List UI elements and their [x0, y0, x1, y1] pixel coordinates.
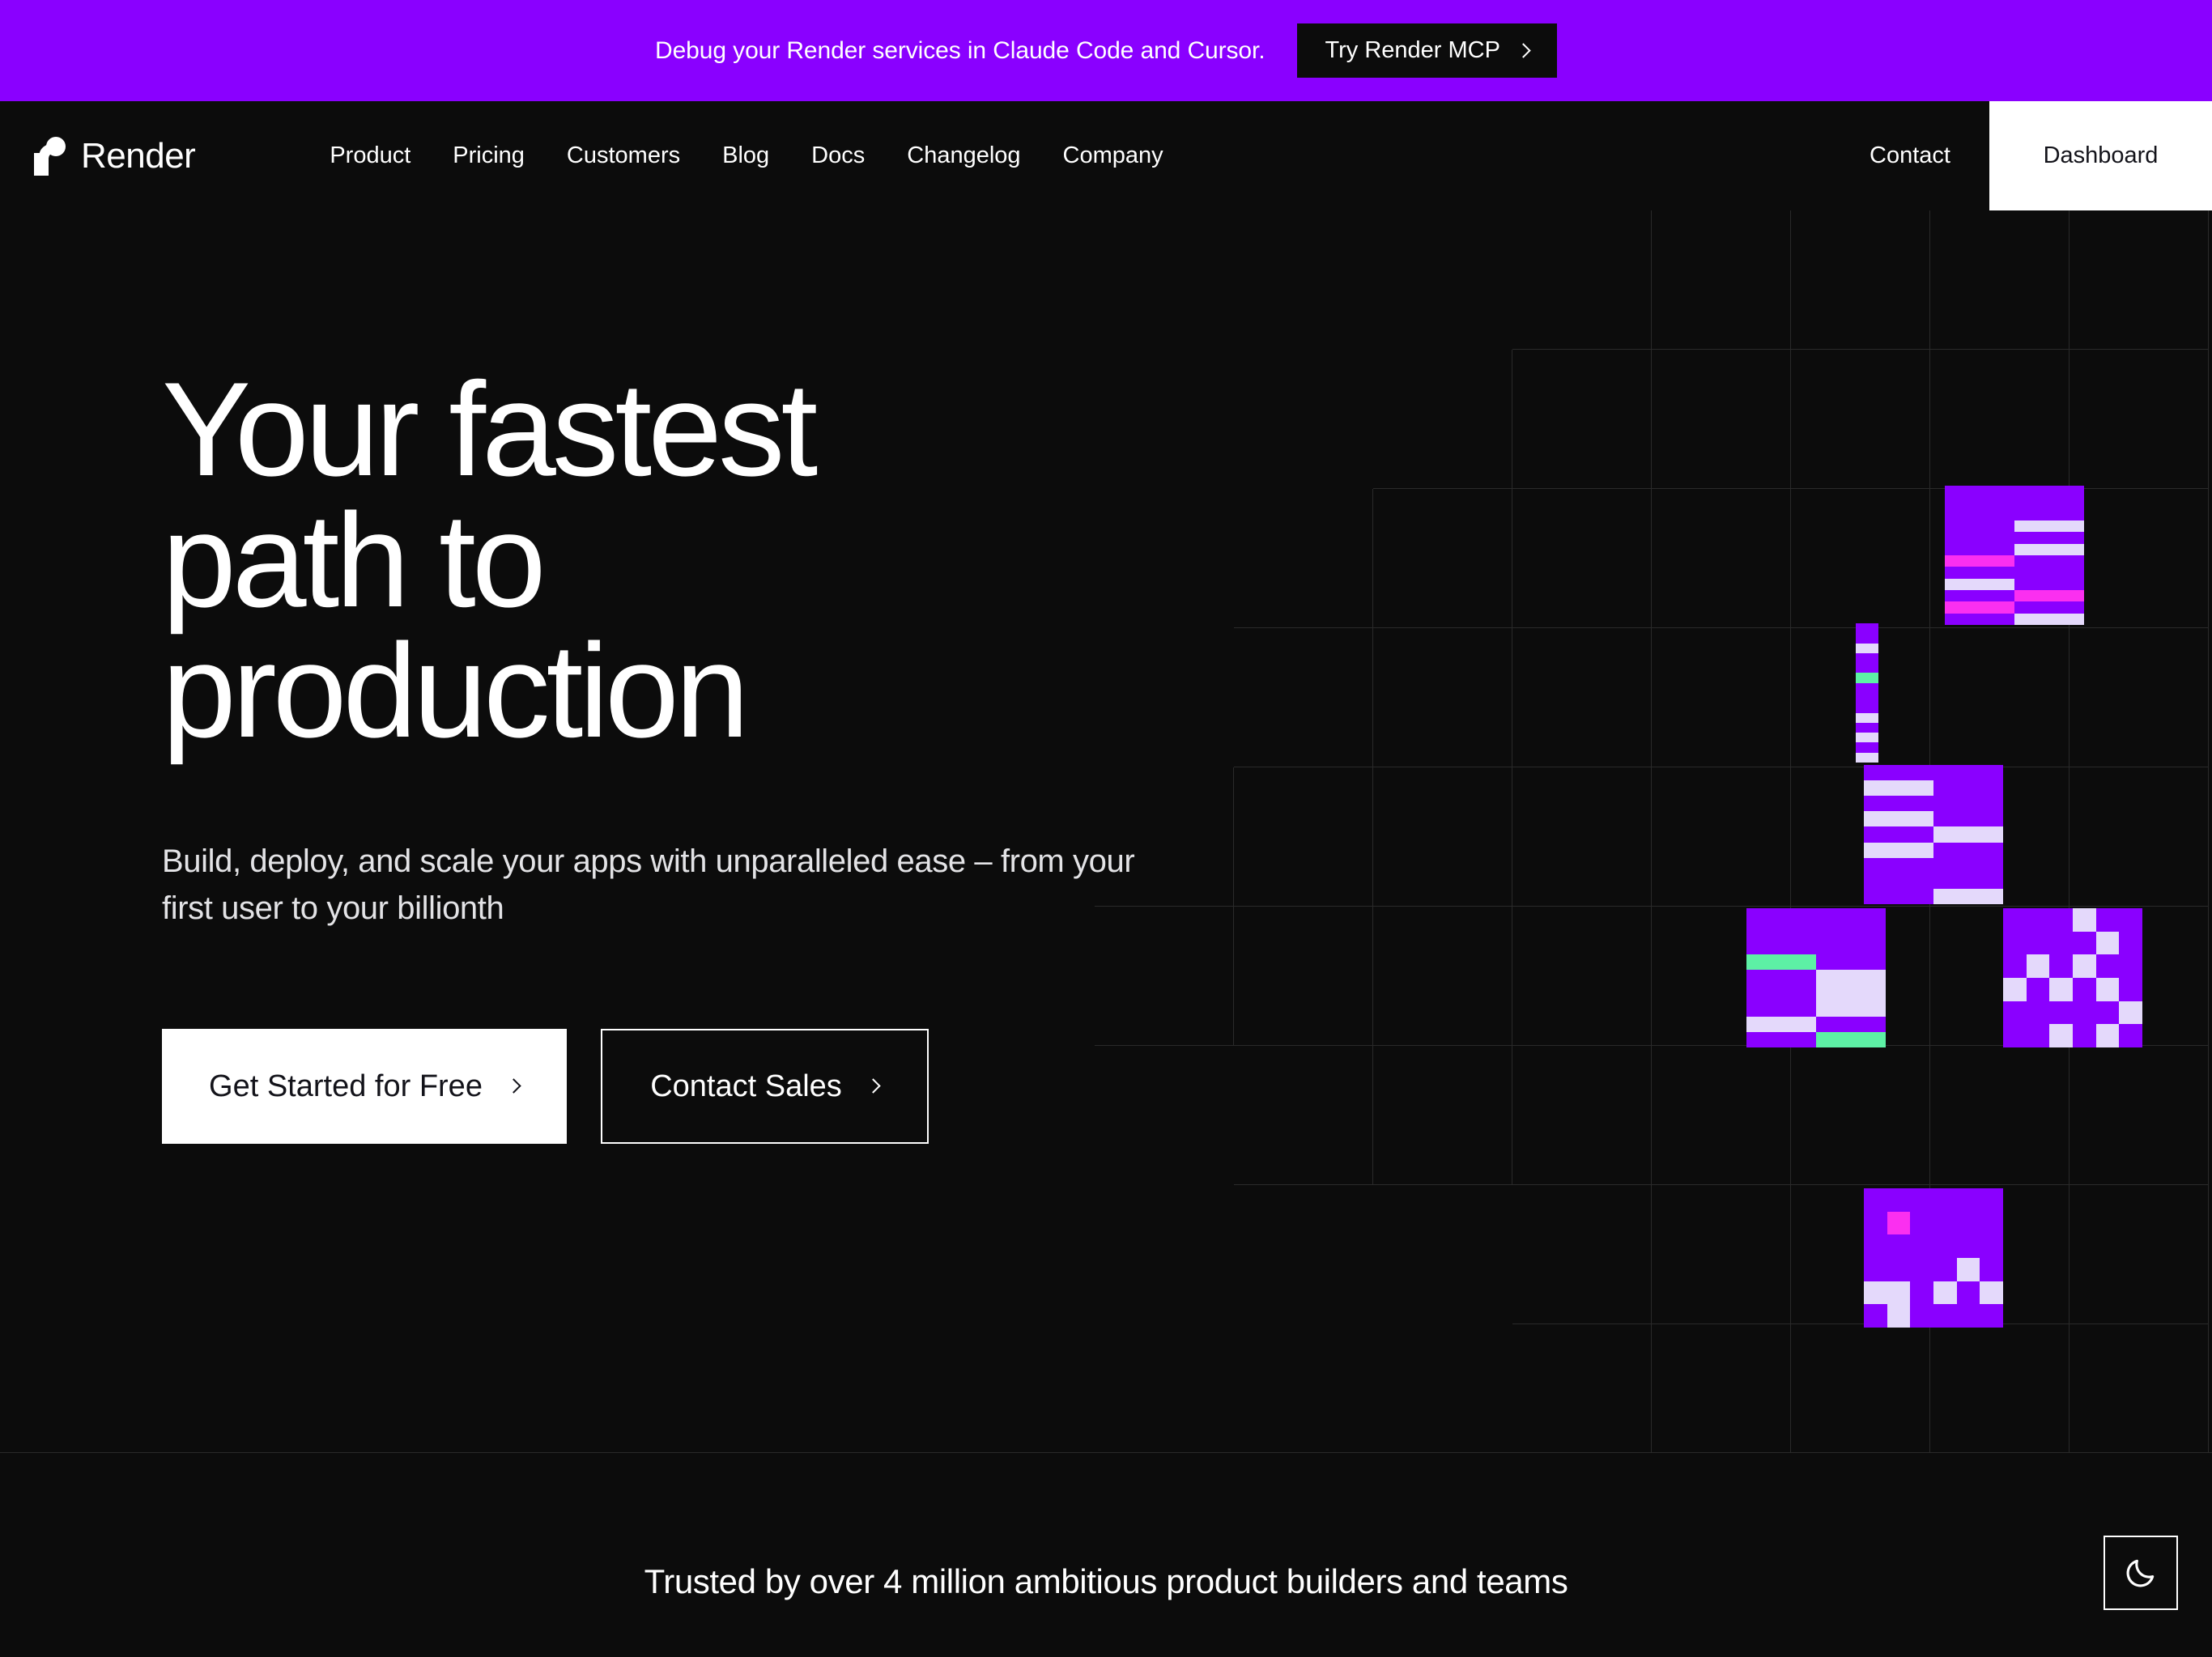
- pixel-cell: [1945, 555, 2014, 567]
- pixel-cell: [1933, 1212, 1957, 1235]
- pixel-cell: [1933, 826, 2003, 842]
- pixel-cell: [2096, 1001, 2120, 1025]
- pixel-cell: [1887, 1304, 1911, 1328]
- pixel-cell: [1864, 1188, 1887, 1212]
- pixel-cell: [1856, 723, 1878, 733]
- pixel-cell: [2014, 497, 2084, 508]
- pixel-cell: [1910, 1304, 1933, 1328]
- pixel-cell: [2119, 1024, 2142, 1047]
- grid-cell: [1930, 1324, 2069, 1453]
- grid-cell: [1791, 1046, 1930, 1185]
- grid-cell: [2069, 767, 2209, 907]
- pixel-cell: [1933, 780, 2003, 796]
- grid-cell: [1791, 210, 1930, 350]
- pixel-cell: [1910, 1281, 1933, 1305]
- page-title: Your fastest path to production: [162, 364, 1174, 757]
- grid-cell: [1652, 628, 1791, 767]
- pixel-cell: [1816, 1017, 1886, 1032]
- grid-cell: [2069, 489, 2209, 628]
- grid-cell: [1373, 907, 1512, 1046]
- grid-cell: [2069, 210, 2209, 350]
- pixel-cell: [1945, 601, 2014, 613]
- grid-cell: [1234, 767, 1373, 907]
- pixel-cell: [1864, 858, 1933, 873]
- pixel-cell: [1864, 765, 1933, 780]
- chevron-right-icon: [507, 1080, 520, 1093]
- nav-links: Product Pricing Customers Blog Docs Chan…: [308, 142, 1184, 169]
- get-started-label: Get Started for Free: [209, 1069, 483, 1104]
- hero-cta-row: Get Started for Free Contact Sales: [162, 1029, 1174, 1144]
- hero-title-line-3: production: [162, 626, 1174, 757]
- pixel-cell: [2096, 978, 2120, 1001]
- pixel-cell: [2073, 978, 2096, 1001]
- contact-sales-button[interactable]: Contact Sales: [601, 1029, 929, 1144]
- pixel-cell: [1864, 873, 1933, 889]
- grid-cell: [1373, 1046, 1512, 1185]
- grid-cell: [1652, 210, 1791, 350]
- pixel-cell: [1910, 1188, 1933, 1212]
- pixel-cell: [1887, 1188, 1911, 1212]
- pixel-cell: [1945, 567, 2014, 578]
- pixel-cell: [1864, 1212, 1887, 1235]
- pixel-cell: [1864, 780, 1933, 796]
- pixel-cell: [2119, 978, 2142, 1001]
- hero-section: Your fastest path to production Build, d…: [0, 210, 2212, 1453]
- pixel-cell: [1856, 663, 1878, 673]
- pixel-cell: [1864, 1234, 1887, 1258]
- section-divider: [0, 1452, 2212, 1453]
- pixel-cell: [1957, 1304, 1980, 1328]
- contact-sales-label: Contact Sales: [650, 1069, 842, 1104]
- pixel-cell: [2014, 590, 2084, 601]
- pixel-cell: [1856, 753, 1878, 763]
- pixel-cell: [2014, 567, 2084, 578]
- grid-cell: [1652, 489, 1791, 628]
- grid-cell: [1791, 1324, 1930, 1453]
- pixel-cell: [2049, 932, 2073, 955]
- grid-cell: [2069, 1046, 2209, 1185]
- pixel-cell: [1746, 970, 1816, 985]
- pixel-cell: [1945, 590, 2014, 601]
- grid-cell: [1930, 210, 2069, 350]
- pixel-cell: [2014, 614, 2084, 625]
- pixel-cell: [2073, 908, 2096, 932]
- grid-cell: [1373, 350, 1512, 489]
- grid-cell: [1791, 489, 1930, 628]
- pixel-cell: [2014, 601, 2084, 613]
- pixel-cell: [1887, 1281, 1911, 1305]
- pixel-cell: [1933, 1304, 1957, 1328]
- pixel-cell: [1816, 970, 1886, 985]
- pixel-cell: [2027, 908, 2050, 932]
- grid-cell: [1652, 1324, 1791, 1453]
- pixel-cell: [1945, 579, 2014, 590]
- pixel-cell: [1864, 1258, 1887, 1281]
- chevron-right-icon: [1516, 45, 1529, 57]
- grid-cell: [1930, 1046, 2069, 1185]
- pixel-cell: [1864, 826, 1933, 842]
- pixel-cell: [2003, 954, 2027, 978]
- pixel-cell: [1864, 1304, 1887, 1328]
- grid-cell: [1512, 1324, 1652, 1453]
- pixel-cell: [2014, 555, 2084, 567]
- pixel-cell: [2003, 932, 2027, 955]
- grid-cell: [1373, 489, 1512, 628]
- try-render-mcp-button[interactable]: Try Render MCP: [1297, 23, 1556, 78]
- pixel-cell: [1910, 1234, 1933, 1258]
- pixel-cell: [2049, 1001, 2073, 1025]
- render-logo-icon: [31, 137, 66, 176]
- grid-cell: [1512, 489, 1652, 628]
- announcement-text: Debug your Render services in Claude Cod…: [655, 37, 1265, 65]
- grid-cell: [1791, 350, 1930, 489]
- pixel-cell: [2096, 1024, 2120, 1047]
- pixel-cell: [1980, 1304, 2003, 1328]
- nav-right-group: Contact Dashboard: [1831, 101, 2212, 210]
- pixel-cell: [1746, 954, 1816, 970]
- pixel-cell: [2049, 954, 2073, 978]
- nav-link-docs[interactable]: Docs: [790, 142, 886, 169]
- pixel-cell: [1945, 497, 2014, 508]
- pixel-cell: [1910, 1258, 1933, 1281]
- pixel-cell: [1856, 644, 1878, 653]
- hero-title-line-1: Your fastest: [162, 364, 1174, 495]
- nav-link-product[interactable]: Product: [308, 142, 432, 169]
- pixel-cell: [1945, 520, 2014, 532]
- grid-cell: [1512, 767, 1652, 907]
- pixel-cell: [2096, 932, 2120, 955]
- pixel-cell: [1816, 954, 1886, 970]
- pixel-cell: [2119, 932, 2142, 955]
- pixel-cell: [2027, 978, 2050, 1001]
- pixel-cell: [1816, 924, 1886, 939]
- render-logo-text: Render: [81, 136, 195, 176]
- pixel-cell: [1945, 532, 2014, 543]
- pixel-cell: [1746, 1032, 1816, 1047]
- pixel-cell: [1933, 843, 2003, 858]
- pixel-cell: [1864, 811, 1933, 826]
- pixel-cell: [2003, 1024, 2027, 1047]
- grid-cell: [1373, 628, 1512, 767]
- pixel-cell: [2014, 544, 2084, 555]
- pixel-cell: [1856, 733, 1878, 742]
- pixel-cell: [2003, 1001, 2027, 1025]
- pixel-cell: [1933, 1258, 1957, 1281]
- grid-cell: [1652, 1046, 1791, 1185]
- main-navigation: Render Product Pricing Customers Blog Do…: [0, 101, 2212, 210]
- grid-cell: [2069, 628, 2209, 767]
- pixel-cell: [1980, 1281, 2003, 1305]
- pixel-cell: [1933, 1188, 1957, 1212]
- pixel-cell: [1746, 908, 1816, 924]
- dashboard-button[interactable]: Dashboard: [1989, 101, 2212, 210]
- nav-left-group: Render Product Pricing Customers Blog Do…: [0, 101, 1185, 210]
- pixel-cell: [1856, 623, 1878, 633]
- pixel-cell: [2014, 486, 2084, 497]
- grid-cell: [2069, 1324, 2209, 1453]
- grid-cell: [1234, 907, 1373, 1046]
- pixel-cell: [1933, 1281, 1957, 1305]
- grid-cell: [1930, 628, 2069, 767]
- pixel-cell: [1856, 742, 1878, 752]
- pixel-cell: [1856, 713, 1878, 723]
- pixel-cell: [2049, 908, 2073, 932]
- pixel-cell: [1910, 1212, 1933, 1235]
- grid-cell: [2069, 350, 2209, 489]
- pixel-cell: [1887, 1258, 1911, 1281]
- hero-title-line-2: path to: [162, 495, 1174, 627]
- grid-cell: [1652, 350, 1791, 489]
- block-vertical-bar: [1856, 623, 1878, 763]
- pixel-cell: [1945, 486, 2014, 497]
- pixel-cell: [1746, 939, 1816, 954]
- pixel-cell: [1980, 1258, 2003, 1281]
- dark-mode-toggle[interactable]: [2104, 1536, 2178, 1610]
- pixel-cell: [2073, 1001, 2096, 1025]
- grid-cell: [1930, 350, 2069, 489]
- hero-subtitle: Build, deploy, and scale your apps with …: [162, 838, 1158, 932]
- render-logo[interactable]: Render: [31, 136, 195, 176]
- grid-cell: [1512, 1046, 1652, 1185]
- pixel-cell: [1816, 1032, 1886, 1047]
- pixel-cell: [2049, 1024, 2073, 1047]
- trusted-by-text: Trusted by over 4 million ambitious prod…: [0, 1562, 2212, 1601]
- grid-cell: [1234, 489, 1373, 628]
- pixel-cell: [2027, 932, 2050, 955]
- grid-cell: [1234, 628, 1373, 767]
- try-render-mcp-label: Try Render MCP: [1325, 37, 1499, 64]
- nav-link-contact[interactable]: Contact: [1831, 101, 1989, 210]
- pixel-cell: [1856, 633, 1878, 643]
- get-started-button[interactable]: Get Started for Free: [162, 1029, 567, 1144]
- pixel-cell: [1933, 858, 2003, 873]
- moon-icon: [2123, 1555, 2159, 1591]
- block-center: [1864, 765, 2003, 904]
- grid-cell: [2069, 1185, 2209, 1324]
- block-bottom: [1864, 1188, 2003, 1328]
- grid-cell: [1512, 907, 1652, 1046]
- pixel-cell: [1945, 509, 2014, 520]
- pixel-cell: [1957, 1258, 1980, 1281]
- pixel-cell: [1945, 614, 2014, 625]
- pixel-cell: [2014, 520, 2084, 532]
- pixel-cell: [1856, 673, 1878, 682]
- pixel-cell: [1980, 1234, 2003, 1258]
- grid-cell: [1512, 210, 1652, 350]
- pixel-cell: [2014, 509, 2084, 520]
- pixel-cell: [1746, 986, 1816, 1001]
- pixel-cell: [1957, 1234, 1980, 1258]
- pixel-cell: [1816, 986, 1886, 1001]
- nav-link-customers[interactable]: Customers: [546, 142, 701, 169]
- pixel-cell: [1864, 889, 1933, 904]
- pixel-cell: [2096, 954, 2120, 978]
- pixel-cell: [2014, 532, 2084, 543]
- grid-cell: [1512, 628, 1652, 767]
- pixel-cell: [2003, 978, 2027, 1001]
- pixel-cell: [2073, 932, 2096, 955]
- pixel-cell: [1933, 1234, 1957, 1258]
- pixel-cell: [2049, 978, 2073, 1001]
- chevron-right-icon: [866, 1080, 879, 1093]
- decorative-grid: [1095, 210, 2212, 1453]
- pixel-cell: [1887, 1234, 1911, 1258]
- pixel-cell: [1856, 653, 1878, 663]
- block-checker: [2003, 908, 2142, 1047]
- pixel-cell: [1856, 703, 1878, 712]
- pixel-cell: [1887, 1212, 1911, 1235]
- pixel-cell: [2014, 579, 2084, 590]
- pixel-cell: [1933, 811, 2003, 826]
- pixel-cell: [1816, 1001, 1886, 1017]
- page-root: Debug your Render services in Claude Cod…: [0, 0, 2212, 1657]
- pixel-cell: [1816, 939, 1886, 954]
- grid-cell: [1373, 767, 1512, 907]
- grid-cell: [1652, 767, 1791, 907]
- pixel-cell: [1980, 1188, 2003, 1212]
- pixel-cell: [2027, 1024, 2050, 1047]
- pixel-cell: [2073, 1024, 2096, 1047]
- block-top-right: [1945, 486, 2084, 625]
- pixel-cell: [2119, 908, 2142, 932]
- pixel-cell: [1864, 796, 1933, 811]
- nav-link-company[interactable]: Company: [1042, 142, 1185, 169]
- nav-link-changelog[interactable]: Changelog: [886, 142, 1041, 169]
- hero-copy: Your fastest path to production Build, d…: [162, 364, 1174, 1144]
- grid-cell: [1652, 1185, 1791, 1324]
- grid-cell: [1234, 1046, 1373, 1185]
- announcement-banner: Debug your Render services in Claude Cod…: [0, 0, 2212, 101]
- pixel-cell: [2073, 954, 2096, 978]
- grid-cell: [1512, 350, 1652, 489]
- nav-link-blog[interactable]: Blog: [701, 142, 790, 169]
- pixel-cell: [2119, 1001, 2142, 1025]
- pixel-cell: [1746, 1017, 1816, 1032]
- nav-link-pricing[interactable]: Pricing: [432, 142, 546, 169]
- pixel-cell: [1980, 1212, 2003, 1235]
- block-lower-left: [1746, 908, 1886, 1047]
- pixel-cell: [1856, 693, 1878, 703]
- pixel-cell: [1864, 843, 1933, 858]
- pixel-cell: [1856, 683, 1878, 693]
- pixel-cell: [1746, 924, 1816, 939]
- pixel-cell: [1957, 1212, 1980, 1235]
- pixel-cell: [1746, 1001, 1816, 1017]
- pixel-cell: [1945, 544, 2014, 555]
- pixel-cell: [1957, 1281, 1980, 1305]
- pixel-cell: [1816, 908, 1886, 924]
- pixel-cell: [2119, 954, 2142, 978]
- pixel-cell: [1864, 1281, 1887, 1305]
- pixel-cell: [1933, 889, 2003, 904]
- pixel-cell: [1933, 765, 2003, 780]
- pixel-cell: [2027, 1001, 2050, 1025]
- pixel-cell: [1933, 796, 2003, 811]
- pixel-cell: [2096, 908, 2120, 932]
- pixel-cell: [2003, 908, 2027, 932]
- grid-cell: [1512, 1185, 1652, 1324]
- pixel-cell: [1933, 873, 2003, 889]
- pixel-cell: [2027, 954, 2050, 978]
- pixel-cell: [1957, 1188, 1980, 1212]
